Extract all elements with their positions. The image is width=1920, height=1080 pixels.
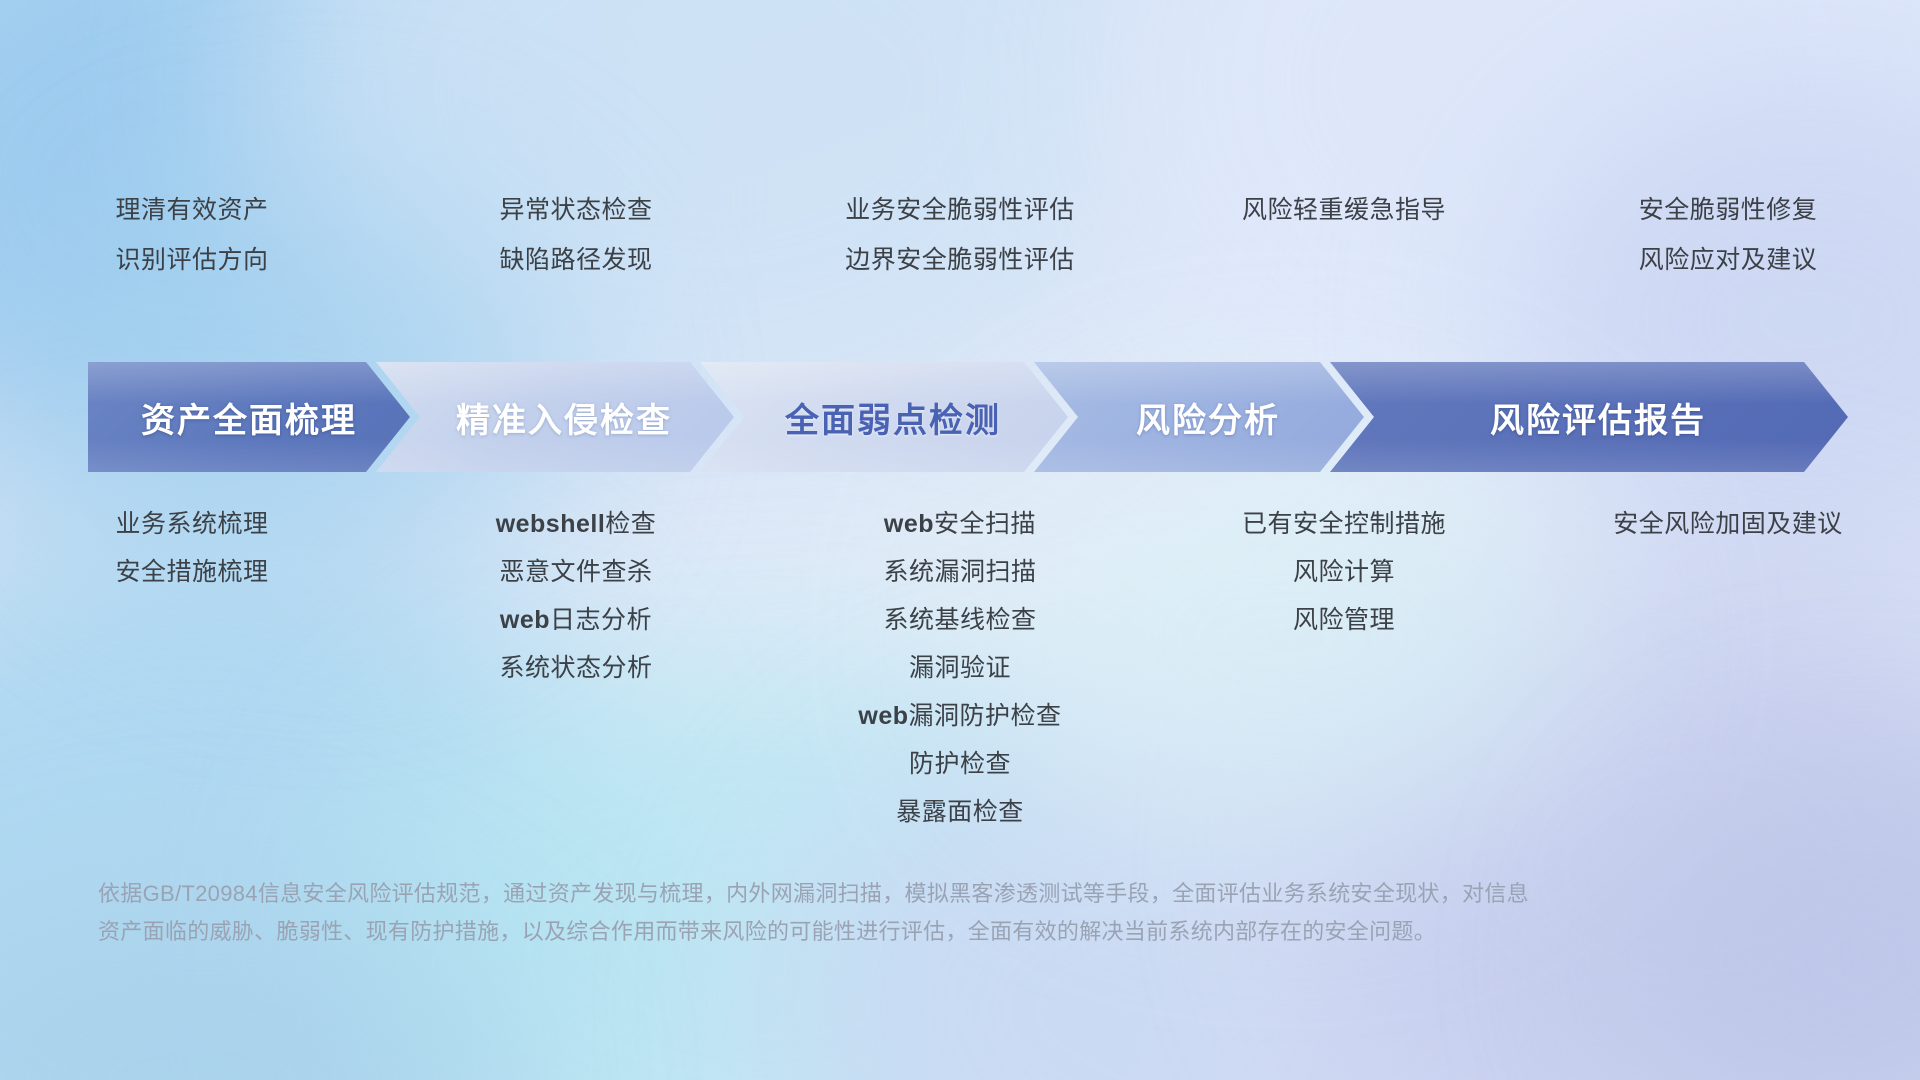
bottom-note-text: 恶意文件查杀: [499, 558, 652, 586]
bottom-note-bold-prefix: web: [884, 510, 934, 538]
top-col-3: 业务安全脆弱性评估边界安全脆弱性评估: [768, 185, 1152, 285]
bottom-note-item: webshell检查: [394, 500, 758, 548]
bottom-note-item: 恶意文件查杀: [394, 548, 758, 596]
bottom-note-item: 系统状态分析: [394, 644, 758, 692]
bottom-note-item: 漏洞验证: [778, 644, 1142, 692]
footer-description: 依据GB/T20984信息安全风险评估规范，通过资产发现与梳理，内外网漏洞扫描，…: [98, 875, 1658, 951]
bottom-note-text: 已有安全控制措施: [1242, 510, 1446, 538]
bottom-note-item: 系统基线检查: [778, 596, 1142, 644]
bottom-col-2: webshell检查恶意文件查杀web日志分析系统状态分析: [384, 500, 768, 692]
bottom-note-item: 暴露面检查: [778, 788, 1142, 836]
top-note-item: 理清有效资产: [10, 185, 374, 235]
step-risk-analysis[interactable]: 风险分析: [1034, 362, 1364, 472]
top-note-item: 安全脆弱性修复: [1546, 185, 1910, 235]
bottom-note-item: web漏洞防护检查: [778, 692, 1142, 740]
bottom-note-item: 系统漏洞扫描: [778, 548, 1142, 596]
step-risk-report[interactable]: 风险评估报告: [1330, 362, 1848, 472]
top-note-item: 缺陷路径发现: [394, 235, 758, 285]
bottom-note-text: 漏洞防护检查: [909, 702, 1062, 730]
top-col-1: 理清有效资产识别评估方向: [0, 185, 384, 285]
bottom-note-text: 暴露面检查: [896, 798, 1024, 826]
bottom-note-item: 防护检查: [778, 740, 1142, 788]
bottom-note-text: 系统状态分析: [499, 654, 652, 682]
bottom-note-item: 安全措施梳理: [10, 548, 374, 596]
top-note-item: 边界安全脆弱性评估: [778, 235, 1142, 285]
bottom-note-text: 风险管理: [1293, 606, 1395, 634]
bottom-note-text: 系统漏洞扫描: [883, 558, 1036, 586]
chevron-label: 精准入侵检查: [438, 393, 672, 442]
top-col-4: 风险轻重缓急指导: [1152, 185, 1536, 285]
bottom-note-text: 安全风险加固及建议: [1613, 510, 1843, 538]
bottom-note-item: web日志分析: [394, 596, 758, 644]
chevron-label: 风险评估报告: [1472, 393, 1706, 442]
bottom-note-bold-prefix: webshell: [496, 510, 606, 538]
bottom-note-text: 日志分析: [550, 606, 652, 634]
step-intrusion-check[interactable]: 精准入侵检查: [376, 362, 734, 472]
step-weakness-detect[interactable]: 全面弱点检测: [700, 362, 1068, 472]
footer-line-1: 依据GB/T20984信息安全风险评估规范，通过资产发现与梳理，内外网漏洞扫描，…: [98, 875, 1658, 913]
bottom-note-bold-prefix: web: [858, 702, 908, 730]
chevron-label: 全面弱点检测: [767, 393, 1001, 442]
bottom-note-text: 安全措施梳理: [115, 558, 268, 586]
top-col-5: 安全脆弱性修复风险应对及建议: [1536, 185, 1920, 285]
bottom-note-item: 业务系统梳理: [10, 500, 374, 548]
top-note-item: 识别评估方向: [10, 235, 374, 285]
top-note-item: 风险应对及建议: [1546, 235, 1910, 285]
bottom-note-text: 漏洞验证: [909, 654, 1011, 682]
top-note-item: 业务安全脆弱性评估: [778, 185, 1142, 235]
bottom-note-text: 安全扫描: [934, 510, 1036, 538]
top-notes-row: 理清有效资产识别评估方向异常状态检查缺陷路径发现业务安全脆弱性评估边界安全脆弱性…: [0, 185, 1920, 285]
bottom-note-item: 安全风险加固及建议: [1546, 500, 1910, 548]
bottom-note-item: web安全扫描: [778, 500, 1142, 548]
bottom-col-5: 安全风险加固及建议: [1536, 500, 1920, 548]
slide-canvas: 理清有效资产识别评估方向异常状态检查缺陷路径发现业务安全脆弱性评估边界安全脆弱性…: [0, 0, 1920, 1080]
bottom-note-item: 风险管理: [1162, 596, 1526, 644]
bottom-note-text: 风险计算: [1293, 558, 1395, 586]
footer-line-2: 资产面临的威胁、脆弱性、现有防护措施，以及综合作用而带来风险的可能性进行评估，全…: [98, 913, 1658, 951]
bottom-notes-row: 业务系统梳理安全措施梳理webshell检查恶意文件查杀web日志分析系统状态分…: [0, 500, 1920, 836]
chevron-label: 资产全面梳理: [141, 393, 357, 442]
top-note-item: 异常状态检查: [394, 185, 758, 235]
bottom-col-4: 已有安全控制措施风险计算风险管理: [1152, 500, 1536, 644]
bottom-note-item: 已有安全控制措施: [1162, 500, 1526, 548]
bottom-note-item: 风险计算: [1162, 548, 1526, 596]
bottom-note-text: 防护检查: [909, 750, 1011, 778]
chevron-label: 风险分析: [1118, 393, 1280, 442]
step-asset-inventory[interactable]: 资产全面梳理: [88, 362, 410, 472]
bottom-note-bold-prefix: web: [500, 606, 550, 634]
top-note-item: 风险轻重缓急指导: [1162, 185, 1526, 235]
bottom-note-text: 检查: [605, 510, 656, 538]
bottom-col-3: web安全扫描系统漏洞扫描系统基线检查漏洞验证web漏洞防护检查防护检查暴露面检…: [768, 500, 1152, 836]
bottom-note-text: 业务系统梳理: [115, 510, 268, 538]
top-col-2: 异常状态检查缺陷路径发现: [384, 185, 768, 285]
bottom-note-text: 系统基线检查: [883, 606, 1036, 634]
process-ribbon: 资产全面梳理精准入侵检查全面弱点检测风险分析风险评估报告: [88, 362, 1848, 472]
bottom-col-1: 业务系统梳理安全措施梳理: [0, 500, 384, 596]
